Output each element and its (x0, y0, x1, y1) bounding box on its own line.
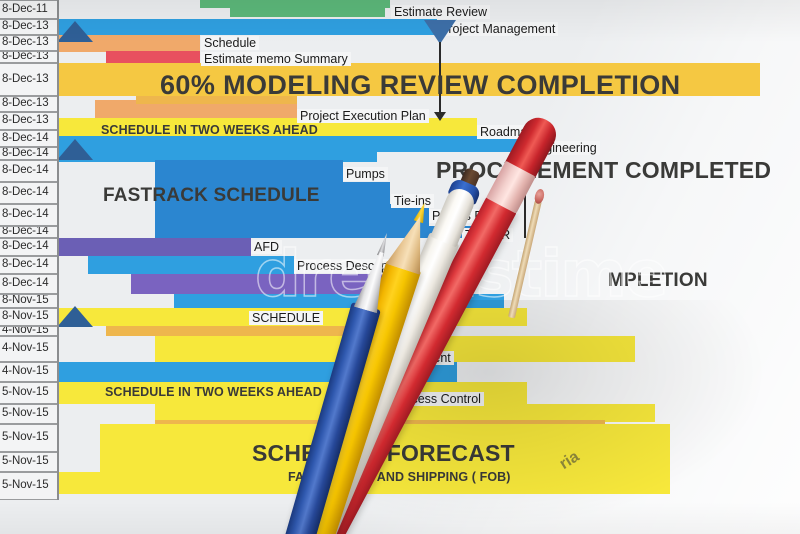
date-cell: 8-Dec-14 (0, 147, 57, 160)
banner-text: 60% MODELING REVIEW COMPLETION (160, 70, 681, 101)
date-cell: 8-Nov-15 (0, 308, 57, 326)
callout-arrow-head-top (424, 20, 456, 44)
task-label: AFD (251, 240, 282, 254)
date-cell: 8-Dec-14 (0, 238, 57, 256)
bar-fastrack-1 (155, 160, 343, 182)
banner-text: FASTRACK SCHEDULE (103, 185, 320, 207)
date-cell: 8-Dec-14 (0, 182, 57, 204)
task-label: Project Execution Plan (297, 109, 429, 123)
date-column: 8-Dec-118-Dec-138-Dec-138-Dec-138-Dec-13… (0, 0, 59, 500)
banner-text: MPLETION (608, 270, 708, 292)
task-label: Estimate Review (391, 5, 490, 19)
banner-text: PROCUREMENT COMPLETED (436, 157, 771, 184)
date-cell: 8-Dec-13 (0, 51, 57, 63)
date-cell: 8-Dec-14 (0, 256, 57, 274)
bar-estimate-review-2 (230, 5, 385, 17)
date-cell: 5-Nov-15 (0, 382, 57, 404)
date-cell: 5-Nov-15 (0, 404, 57, 424)
date-cell: 8-Dec-13 (0, 96, 57, 112)
date-cell: 8-Dec-11 (0, 0, 57, 19)
gantt-chart-photo: 8-Dec-118-Dec-138-Dec-138-Dec-138-Dec-13… (0, 0, 800, 534)
date-cell: 8-Dec-14 (0, 226, 57, 238)
date-cell: 8-Dec-13 (0, 35, 57, 51)
milestone-marker-1 (57, 21, 93, 42)
task-label: Schedule (201, 36, 259, 50)
milestone-marker-3 (57, 306, 93, 327)
banner-text: SCHEDULE IN TWO WEEKS AHEAD (105, 385, 322, 399)
bar-roadmaps (57, 136, 527, 152)
date-cell: 5-Nov-15 (0, 424, 57, 452)
date-cell: 8-Dec-14 (0, 160, 57, 182)
callout-arrow-tip-top (434, 112, 446, 121)
date-cell: 5-Nov-15 (0, 452, 57, 472)
date-cell: 8-Dec-13 (0, 112, 57, 130)
date-cell: 4-Nov-15 (0, 362, 57, 382)
date-cell: 8-Dec-14 (0, 130, 57, 147)
bar-project-management (57, 19, 437, 35)
date-cell: 8-Dec-14 (0, 274, 57, 294)
date-cell: 8-Dec-13 (0, 19, 57, 35)
banner-text: SCHEDULE IN TWO WEEKS AHEAD (101, 123, 318, 137)
date-cell: 5-Nov-15 (0, 472, 57, 500)
bar-process-description (88, 256, 294, 274)
bar-fastrack-3 (155, 204, 429, 226)
task-label: SCHEDULE (249, 311, 323, 325)
date-cell: 8-Dec-13 (0, 63, 57, 96)
date-cell: 8-Nov-15 (0, 294, 57, 308)
task-label: Tie-ins (391, 194, 434, 208)
bar-utility-list (131, 274, 389, 294)
task-label: Pumps (343, 167, 388, 181)
date-cell: 8-Dec-14 (0, 204, 57, 226)
task-label: Estimate memo Summary (201, 52, 351, 66)
date-cell: 4-Nov-15 (0, 336, 57, 362)
milestone-marker-2 (57, 139, 93, 160)
date-cell: 4-Nov-15 (0, 326, 57, 336)
bar-afd (57, 238, 251, 256)
